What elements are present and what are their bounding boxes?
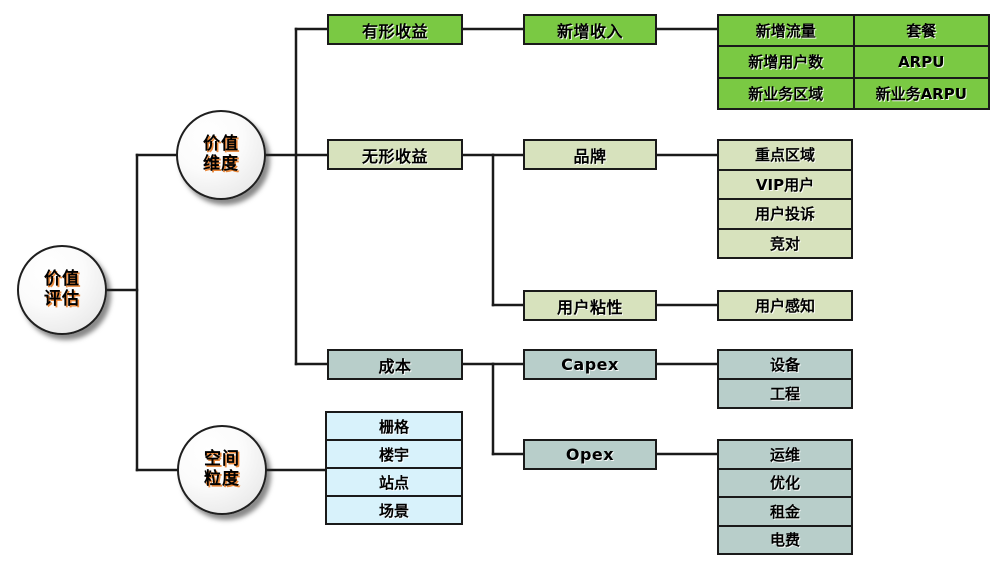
table-row[interactable]: 运维 (719, 441, 851, 470)
table-row[interactable]: 竞对 (719, 230, 851, 258)
table-row[interactable]: 新增用户数 ARPU (719, 47, 988, 78)
table-cell: ARPU (855, 47, 989, 76)
table-cell: 栅格 (327, 413, 461, 439)
table-row[interactable]: 场景 (327, 497, 461, 523)
table-row[interactable]: 楼宇 (327, 441, 461, 469)
table-cell: 优化 (719, 470, 851, 497)
table-cell: VIP用户 (719, 171, 851, 199)
table-row[interactable]: 新业务区域 新业务ARPU (719, 79, 988, 108)
node-brand[interactable]: 品牌 (523, 139, 657, 170)
node-cost[interactable]: 成本 (327, 349, 463, 380)
node-user-stickiness[interactable]: 用户粘性 (523, 290, 657, 321)
table-capex: 设备 工程 (717, 349, 853, 409)
table-new-revenue: 新增流量 套餐 新增用户数 ARPU 新业务区域 新业务ARPU (717, 14, 990, 110)
table-row[interactable]: 站点 (327, 469, 461, 497)
node-value-assessment-line1: 价值 (44, 270, 80, 290)
node-value-assessment[interactable]: 价值 评估 (17, 245, 107, 335)
table-opex: 运维 优化 租金 电费 (717, 439, 853, 555)
node-spatial-granularity[interactable]: 空间 粒度 (177, 425, 267, 515)
node-new-revenue[interactable]: 新增收入 (523, 14, 657, 45)
table-row[interactable]: 栅格 (327, 413, 461, 441)
table-cell: 重点区域 (719, 141, 851, 169)
table-cell: 新增流量 (719, 16, 855, 45)
node-spatial-granularity-line1: 空间 (204, 450, 240, 470)
table-row[interactable]: 重点区域 (719, 141, 851, 171)
node-value-dimension[interactable]: 价值 维度 (176, 110, 266, 200)
table-cell: 套餐 (855, 16, 989, 45)
table-row[interactable]: 用户投诉 (719, 200, 851, 230)
table-cell: 电费 (719, 527, 851, 554)
table-row[interactable]: 工程 (719, 380, 851, 407)
table-row[interactable]: 用户感知 (719, 292, 851, 319)
node-spatial-granularity-line2: 粒度 (204, 470, 240, 490)
table-cell: 用户投诉 (719, 200, 851, 228)
table-cell: 租金 (719, 498, 851, 525)
table-cell: 站点 (327, 469, 461, 495)
table-row[interactable]: 设备 (719, 351, 851, 380)
table-cell: 场景 (327, 497, 461, 523)
node-value-dimension-line1: 价值 (203, 135, 239, 155)
table-row[interactable]: 租金 (719, 498, 851, 527)
table-row[interactable]: 优化 (719, 470, 851, 499)
node-tangible-benefit[interactable]: 有形收益 (327, 14, 463, 45)
diagram-canvas: 价值 评估 价值 维度 空间 粒度 有形收益 无形收益 成本 新增收入 品牌 用… (0, 0, 1000, 563)
node-opex[interactable]: Opex (523, 439, 657, 470)
table-user-perception: 用户感知 (717, 290, 853, 321)
table-spatial-granularity: 栅格 楼宇 站点 场景 (325, 411, 463, 525)
table-row[interactable]: 电费 (719, 527, 851, 554)
table-cell: 楼宇 (327, 441, 461, 467)
table-cell: 新业务ARPU (855, 79, 989, 108)
table-cell: 运维 (719, 441, 851, 468)
table-cell: 新增用户数 (719, 47, 855, 76)
node-value-assessment-line2: 评估 (44, 290, 80, 310)
table-cell: 新业务区域 (719, 79, 855, 108)
node-value-dimension-line2: 维度 (203, 155, 239, 175)
table-cell: 工程 (719, 380, 851, 407)
table-row[interactable]: 新增流量 套餐 (719, 16, 988, 47)
table-cell: 设备 (719, 351, 851, 378)
table-row[interactable]: VIP用户 (719, 171, 851, 201)
table-cell: 用户感知 (719, 292, 851, 319)
node-capex[interactable]: Capex (523, 349, 657, 380)
table-brand: 重点区域 VIP用户 用户投诉 竞对 (717, 139, 853, 259)
node-intangible-benefit[interactable]: 无形收益 (327, 139, 463, 170)
table-cell: 竞对 (719, 230, 851, 258)
